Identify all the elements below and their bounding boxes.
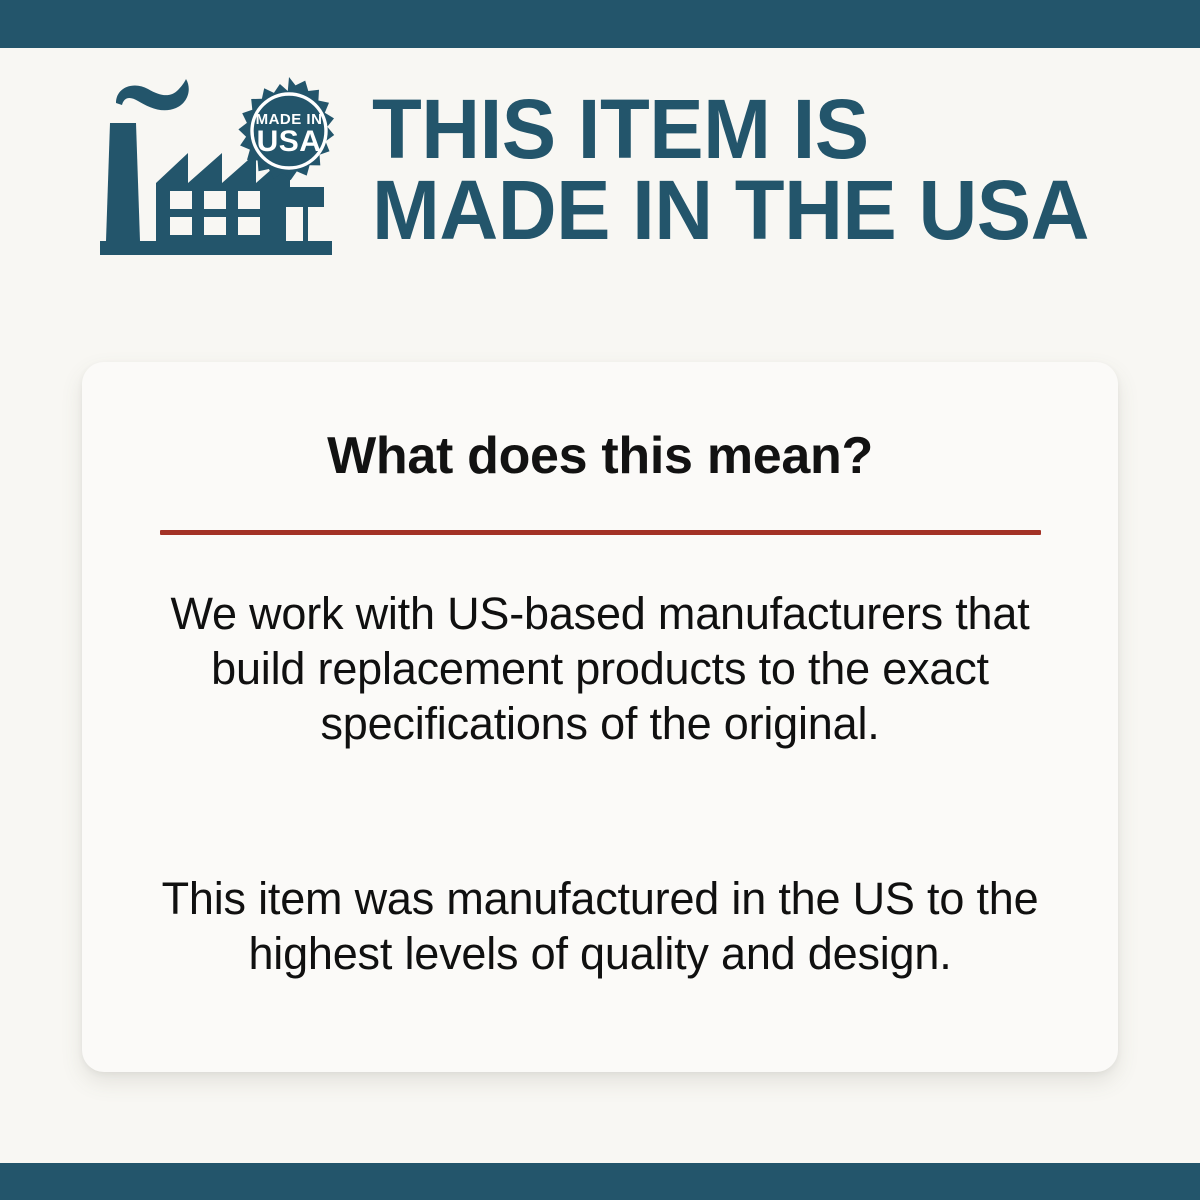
top-accent-bar [0, 0, 1200, 48]
title-line-2: MADE IN THE USA [372, 170, 1089, 251]
card-paragraph-2: This item was manufactured in the US to … [82, 872, 1118, 982]
card-heading: What does this mean? [82, 362, 1118, 486]
red-divider [160, 530, 1041, 535]
page-header: MADE IN USA THIS ITEM IS MADE IN THE USA [0, 52, 1200, 292]
title-line-1: THIS ITEM IS [372, 89, 1089, 170]
info-card: What does this mean? We work with US-bas… [82, 362, 1118, 1072]
svg-text:USA: USA [257, 125, 322, 158]
card-paragraph-1: We work with US-based manufacturers that… [82, 587, 1118, 752]
bottom-accent-bar [0, 1163, 1200, 1200]
factory-icon: MADE IN USA [100, 75, 350, 270]
page-title: THIS ITEM IS MADE IN THE USA [372, 89, 1111, 256]
